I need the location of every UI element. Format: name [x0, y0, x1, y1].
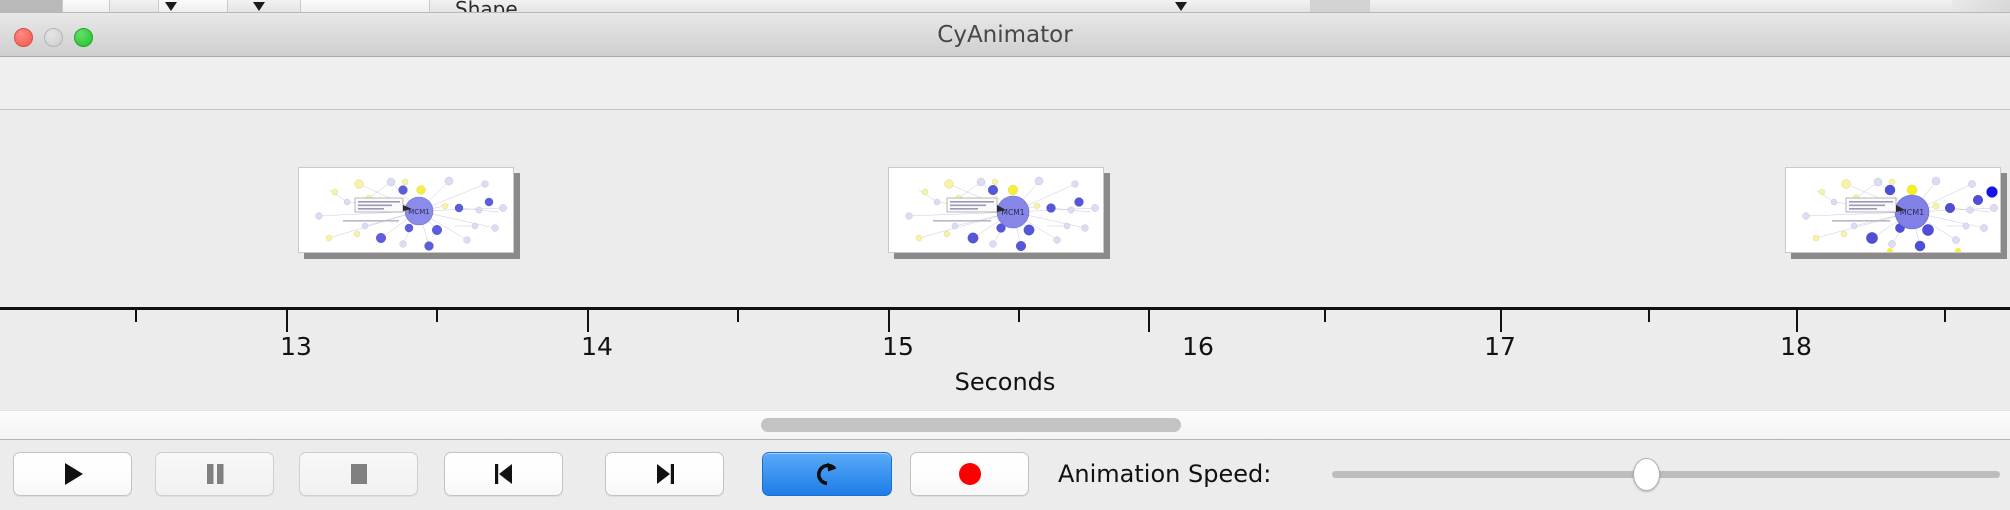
page-title: CyAnimator — [0, 13, 2010, 57]
axis-title: Seconds — [0, 368, 2010, 396]
frame-thumbnail-2[interactable]: MCM1 — [888, 167, 1110, 259]
timeline-scrollbar[interactable] — [0, 410, 2010, 440]
thumbnail-sheet: MCM1 — [888, 167, 1104, 253]
tick-label: 15 — [882, 332, 914, 361]
next-frame-button[interactable] — [605, 452, 724, 496]
bg-strip-dark-1 — [0, 0, 62, 13]
tick-major — [1500, 310, 1502, 332]
loop-icon — [812, 459, 842, 489]
tick-label: 13 — [280, 332, 312, 361]
timeline-axis-line — [0, 307, 2010, 310]
background-window-strip: Shape — [0, 0, 2010, 13]
animation-speed-label: Animation Speed: — [1058, 452, 1271, 496]
tick-minor — [1324, 310, 1326, 322]
tick-label: 14 — [581, 332, 613, 361]
record-button[interactable] — [910, 452, 1029, 496]
tick-minor — [135, 310, 137, 322]
tick-major — [1796, 310, 1798, 332]
bg-caret-icon-1 — [165, 2, 177, 11]
tick-minor — [1648, 310, 1650, 322]
tick-minor — [737, 310, 739, 322]
thumbnail-sheet: MCM1 — [1785, 167, 2001, 253]
loop-button[interactable] — [762, 452, 892, 496]
bg-strip-tab-1 — [62, 0, 110, 13]
tick-major — [286, 310, 288, 332]
toolbar: Clear All Frames — [0, 57, 2010, 110]
slider-track[interactable] — [1332, 471, 2000, 478]
slider-thumb[interactable] — [1633, 458, 1660, 491]
animation-speed-slider[interactable] — [1332, 452, 2000, 496]
network-graph-icon: MCM1 — [889, 168, 1104, 253]
tick-major — [888, 310, 890, 332]
network-graph-icon: MCM1 — [299, 168, 514, 253]
skip-forward-icon — [652, 460, 678, 488]
bg-caret-icon-3 — [1175, 2, 1187, 11]
play-button[interactable] — [13, 452, 132, 496]
frame-thumbnail-3[interactable]: MCM1 — [1785, 167, 2007, 259]
prev-frame-button[interactable] — [444, 452, 563, 496]
playback-controls: Animation Speed: — [0, 441, 2010, 510]
tick-major — [587, 310, 589, 332]
tick-label: 18 — [1780, 332, 1812, 361]
bg-caret-icon-2 — [253, 2, 265, 11]
pause-button[interactable] — [155, 452, 274, 496]
thumbnail-sheet: MCM1 — [298, 167, 514, 253]
network-graph-icon: MCM1 — [1786, 168, 2001, 253]
record-icon — [957, 461, 983, 487]
tick-minor — [436, 310, 438, 322]
central-node-label: MCM1 — [408, 208, 429, 216]
skip-back-icon — [491, 460, 517, 488]
central-node-label: MCM1 — [1002, 208, 1025, 217]
bg-window-resize-corner — [1952, 0, 2010, 13]
pause-icon — [202, 460, 228, 488]
tick-label: 17 — [1484, 332, 1516, 361]
titlebar: CyAnimator — [0, 13, 2010, 57]
stop-icon — [346, 460, 372, 488]
bg-strip-tab-3 — [300, 0, 430, 13]
stop-button[interactable] — [299, 452, 418, 496]
play-icon — [60, 460, 86, 488]
bg-strip-dark-2 — [1310, 0, 1370, 13]
tick-label: 16 — [1182, 332, 1214, 361]
tick-major — [1148, 310, 1150, 332]
frame-thumbnail-1[interactable]: MCM1 — [298, 167, 520, 259]
cyanimator-window: Shape CyAnimator Clear All Frames — [0, 0, 2010, 510]
tick-minor — [1018, 310, 1020, 322]
tick-label: 2 — [0, 332, 1, 361]
tick-minor — [1944, 310, 1946, 322]
bg-window-partial-label: Shape — [455, 0, 518, 13]
timeline-panel[interactable]: MCM1 — [0, 110, 2010, 410]
scrollbar-thumb[interactable] — [761, 418, 1181, 432]
